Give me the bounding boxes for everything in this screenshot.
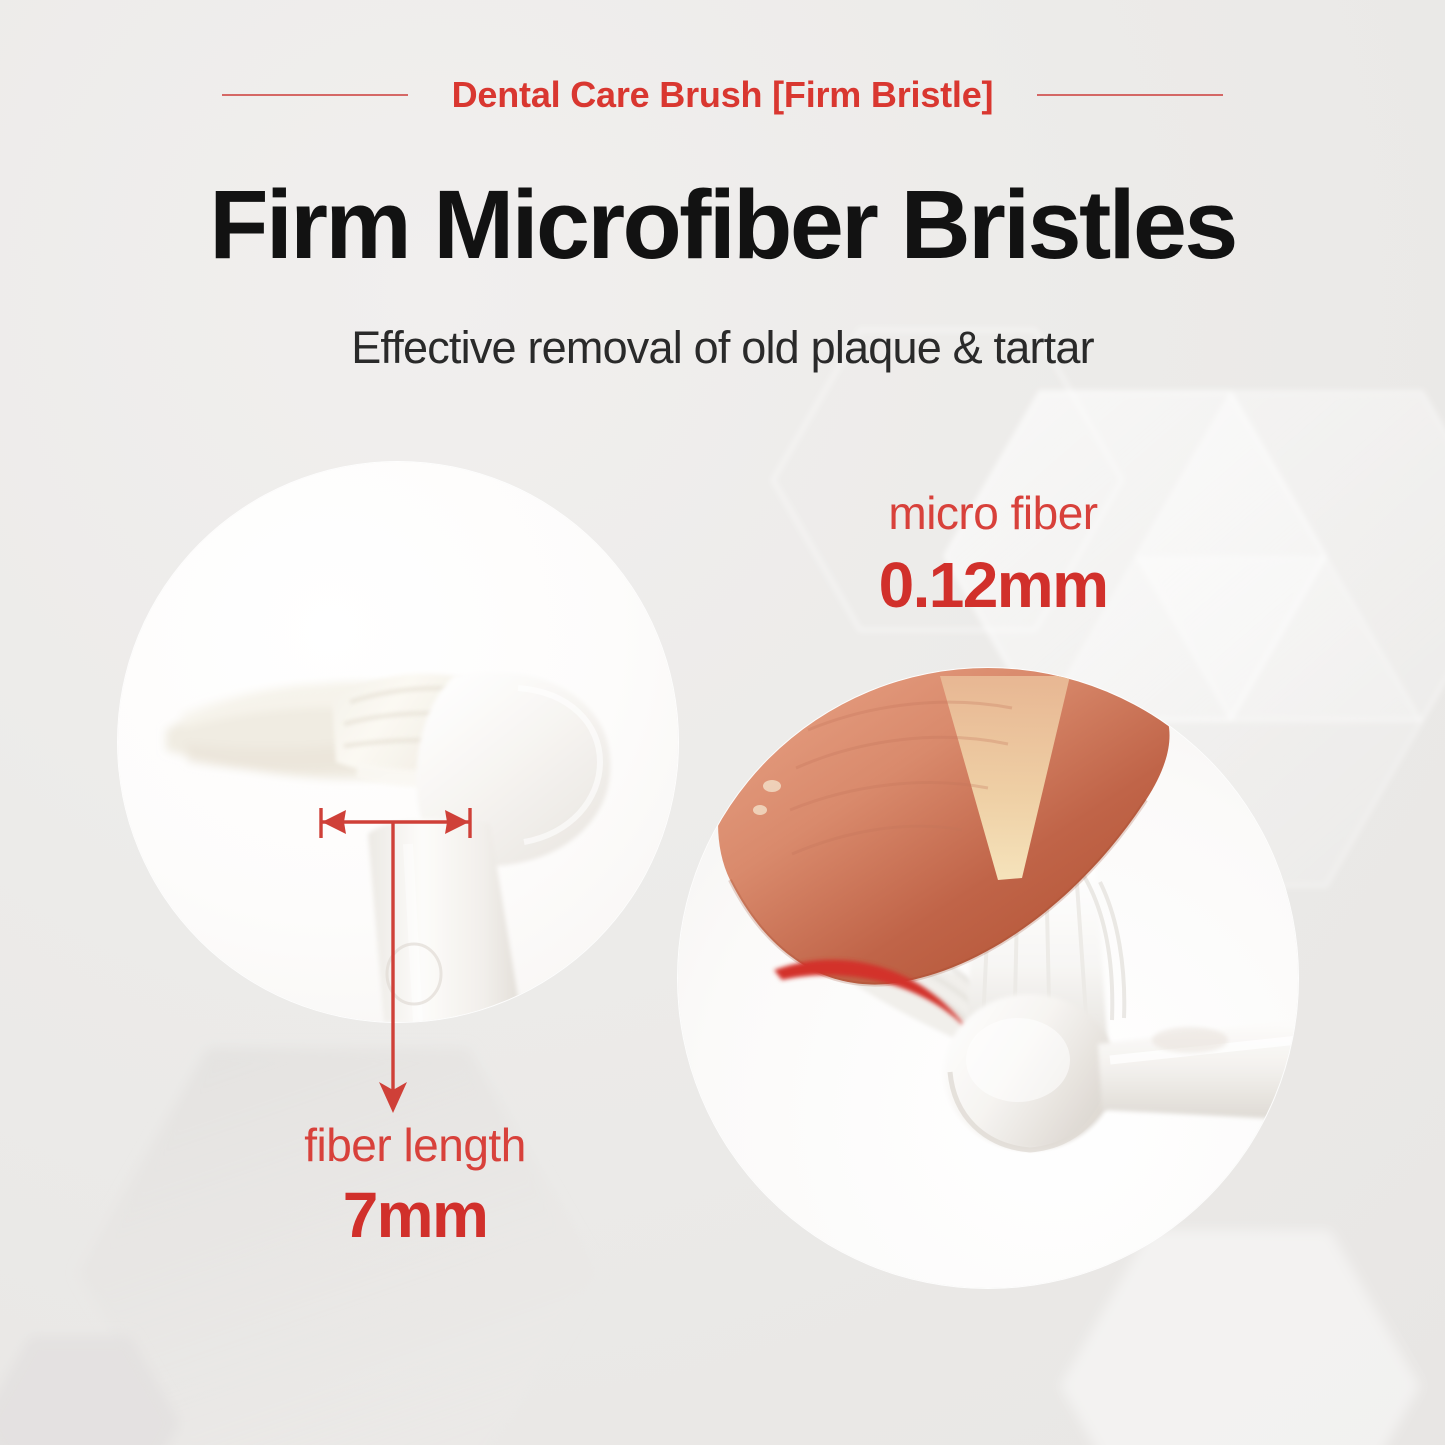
hexagon-lower-left-small [0, 1336, 180, 1445]
eyebrow-rule-right [1037, 94, 1223, 96]
fingertip-bristle-photo [678, 668, 1298, 1288]
brush-ferrule [944, 994, 1116, 1150]
eyebrow-text: Dental Care Brush [Firm Bristle] [452, 74, 994, 116]
dimension-arrowhead-down [379, 1082, 407, 1113]
fingertip-illustration [678, 668, 1298, 1288]
hexagon-bottom-right [1060, 1230, 1420, 1445]
fingertip [718, 668, 1169, 985]
callout-micro-fiber-label: micro fiber [828, 486, 1158, 540]
brush-head-illustration [118, 462, 678, 1022]
callout-fiber-length-label: fiber length [215, 1118, 615, 1172]
infographic-canvas: Dental Care Brush [Firm Bristle] Firm Mi… [0, 0, 1445, 1445]
callout-micro-fiber-value: 0.12mm [828, 548, 1158, 622]
callout-fiber-length: fiber length 7mm [215, 1118, 615, 1252]
brush-head-photo [118, 462, 678, 1022]
callout-micro-fiber: micro fiber 0.12mm [828, 486, 1158, 622]
page-title: Firm Microfiber Bristles [0, 176, 1445, 275]
brush-stick [1098, 1020, 1298, 1120]
eyebrow-row: Dental Care Brush [Firm Bristle] [0, 74, 1445, 116]
page-subtitle: Effective removal of old plaque & tartar [0, 322, 1445, 374]
eyebrow-rule-left [222, 94, 408, 96]
callout-fiber-length-value: 7mm [215, 1178, 615, 1252]
